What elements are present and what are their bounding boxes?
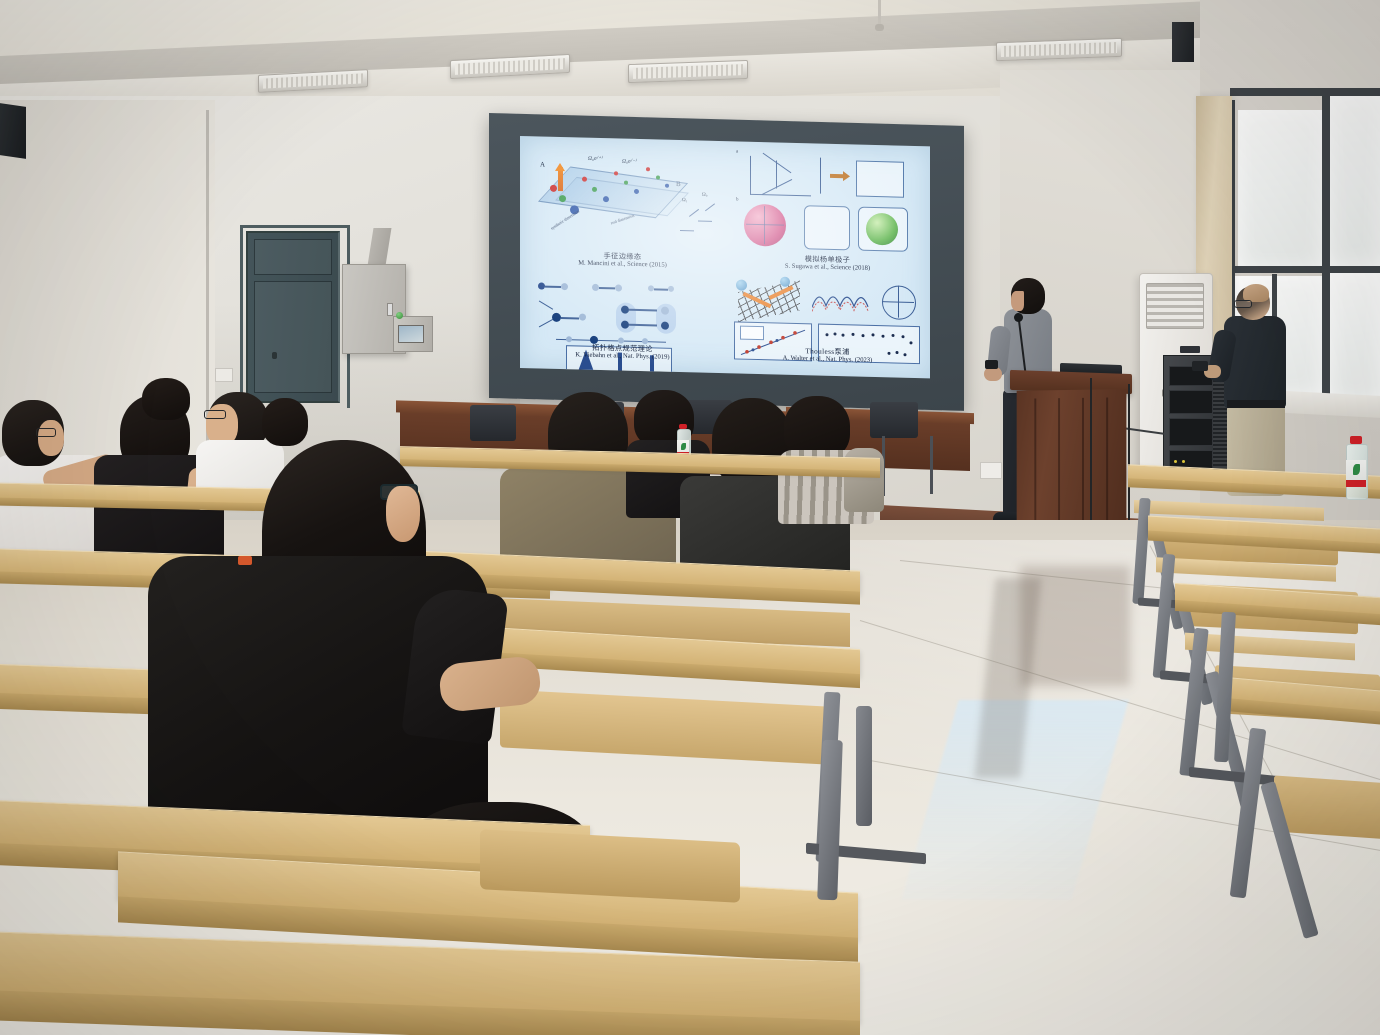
photo-vignette: [0, 0, 1380, 1035]
lecture-hall-photo: A B Ω₀σ⁽⁺⁾ Ω₀σ⁽⁻⁾: [0, 0, 1380, 1035]
